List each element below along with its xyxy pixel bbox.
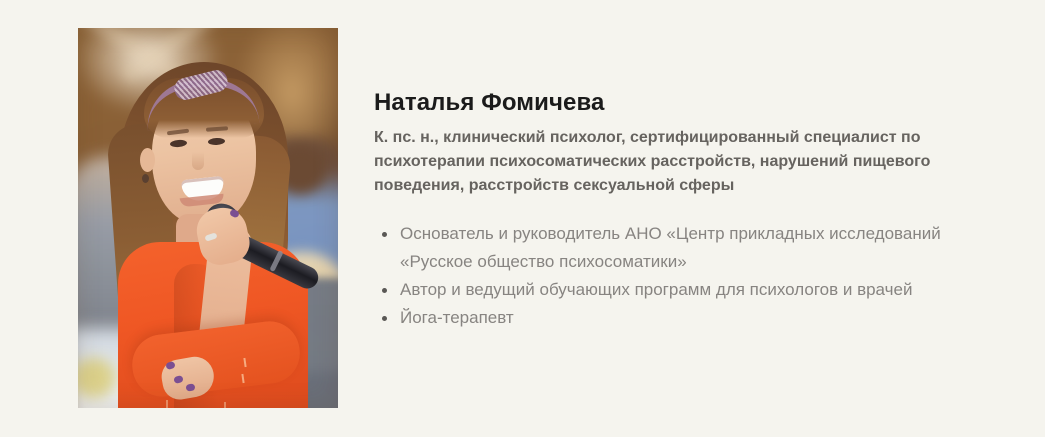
speaker-name: Наталья Фомичева: [374, 88, 994, 118]
speaker-photo: [78, 28, 338, 408]
list-item: Основатель и руководитель АНО «Центр при…: [396, 220, 994, 276]
photo-subject-hem-stitch-a: [166, 400, 168, 408]
speaker-profile-card: Наталья Фомичева К. пс. н., клинический …: [0, 0, 1045, 437]
photo-subject-ear: [140, 148, 155, 172]
speaker-credentials: К. пс. н., клинический психолог, сертифи…: [374, 126, 988, 198]
photo-subject-nose: [192, 152, 204, 170]
list-item: Автор и ведущий обучающих программ для п…: [396, 276, 994, 304]
list-item: Йога-терапевт: [396, 304, 994, 332]
photo-canvas: [78, 28, 338, 408]
photo-subject-earring: [142, 174, 149, 183]
speaker-achievements-list: Основатель и руководитель АНО «Центр при…: [374, 220, 994, 332]
photo-subject-hem-stitch-b: [224, 402, 226, 408]
speaker-info: Наталья Фомичева К. пс. н., клинический …: [374, 88, 994, 332]
